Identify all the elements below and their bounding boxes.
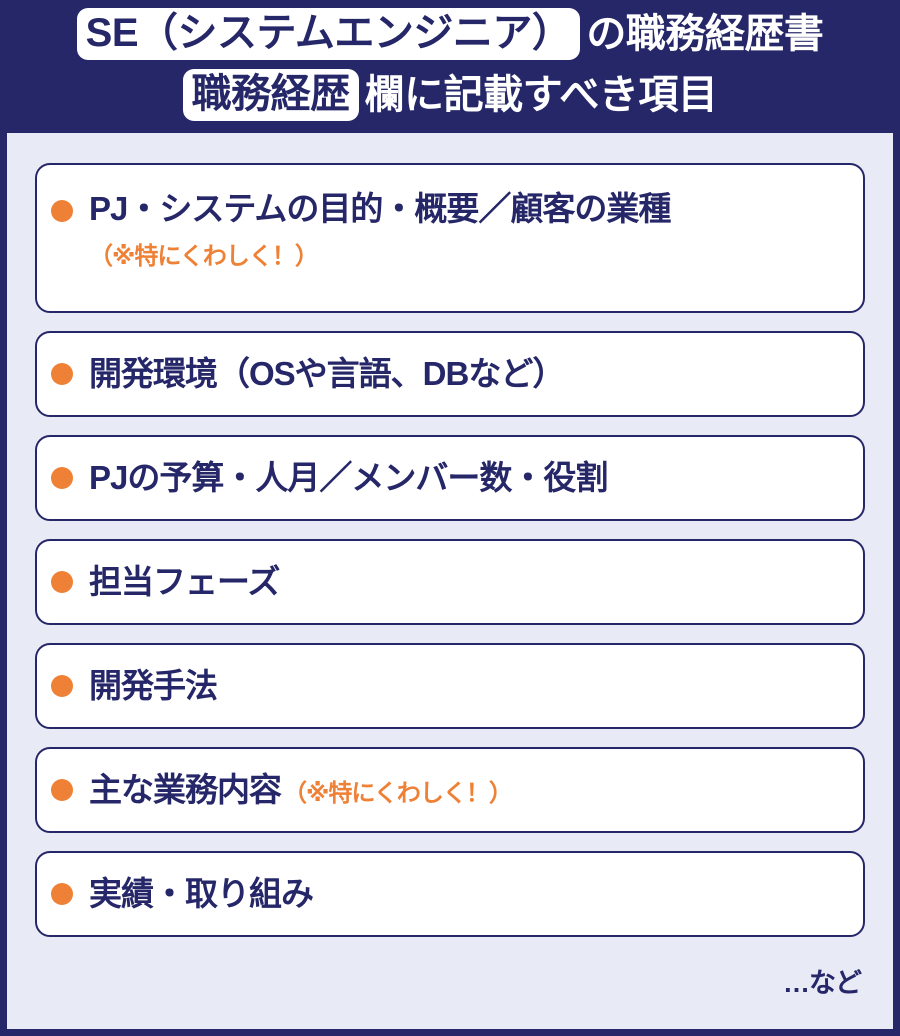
list-item: PJの予算・人月／メンバー数・役割 [35, 435, 865, 521]
list-item-text: PJ・システムの目的・概要／顧客の業種 （※特にくわしく！） [89, 191, 849, 271]
list-item-label: 実績・取り組み [89, 876, 849, 913]
infographic-poster: SE（システムエンジニア） の職務経歴書 職務経歴 欄に記載すべき項目 PJ・シ… [0, 0, 900, 1036]
header-title-line-2-rest: 欄に記載すべき項目 [359, 75, 718, 115]
list-item-label: 開発手法 [89, 668, 849, 705]
list-item: 担当フェーズ [35, 539, 865, 625]
list-item-text: 開発手法 [89, 668, 849, 705]
list-item-text: 開発環境（OSや言語、DBなど） [89, 356, 849, 393]
list-item-text: PJの予算・人月／メンバー数・役割 [89, 460, 849, 497]
list-item-label: 主な業務内容（※特にくわしく！） [89, 772, 849, 809]
footer-note: …など [35, 955, 865, 1000]
list-item: 主な業務内容（※特にくわしく！） [35, 747, 865, 833]
list-item-note: （※特にくわしく！） [89, 236, 849, 271]
list-item-note: （※特にくわしく！） [283, 780, 512, 807]
list-item: PJ・システムの目的・概要／顧客の業種 （※特にくわしく！） [35, 163, 865, 313]
list-item: 開発手法 [35, 643, 865, 729]
poster-header: SE（システムエンジニア） の職務経歴書 職務経歴 欄に記載すべき項目 [0, 0, 900, 133]
list-item-label-text: 主な業務内容 [89, 771, 281, 808]
list-item: 実績・取り組み [35, 851, 865, 937]
orange-dot-icon [51, 467, 73, 489]
list-item-label: PJ・システムの目的・概要／顧客の業種 [89, 191, 849, 228]
header-pill-se: SE（システムエンジニア） [77, 8, 581, 60]
header-title-line-1-rest: の職務経歴書 [580, 14, 823, 54]
orange-dot-icon [51, 779, 73, 801]
header-title-line-2: 職務経歴 欄に記載すべき項目 [0, 69, 900, 121]
list-item-text: 主な業務内容（※特にくわしく！） [89, 772, 849, 809]
list-item-label: 開発環境（OSや言語、DBなど） [89, 356, 849, 393]
orange-dot-icon [51, 571, 73, 593]
header-pill-shokumu-keireki: 職務経歴 [183, 69, 359, 121]
list-item-text: 実績・取り組み [89, 876, 849, 913]
list-item-label: PJの予算・人月／メンバー数・役割 [89, 460, 849, 497]
orange-dot-icon [51, 675, 73, 697]
list-item: 開発環境（OSや言語、DBなど） [35, 331, 865, 417]
list-item-label: 担当フェーズ [89, 564, 849, 601]
header-title-line-1: SE（システムエンジニア） の職務経歴書 [0, 8, 900, 60]
orange-dot-icon [51, 363, 73, 385]
list-item-text: 担当フェーズ [89, 564, 849, 601]
orange-dot-icon [51, 883, 73, 905]
orange-dot-icon [51, 200, 73, 222]
poster-body: PJ・システムの目的・概要／顧客の業種 （※特にくわしく！） 開発環境（OSや言… [7, 133, 893, 1029]
